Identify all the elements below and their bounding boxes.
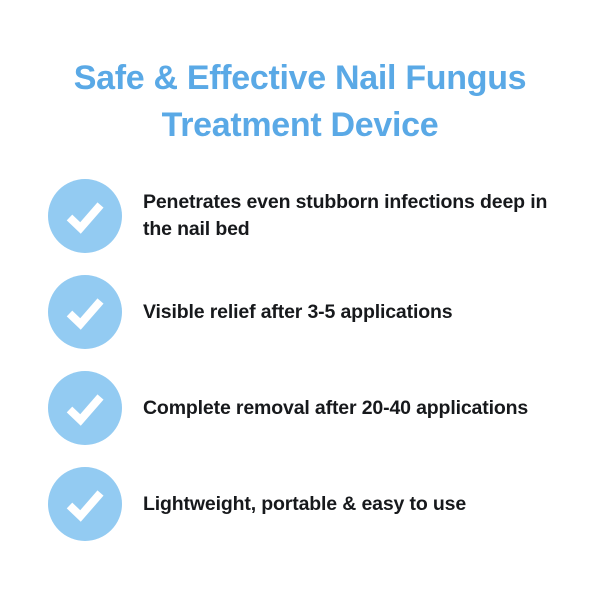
- list-item: Complete removal after 20-40 application…: [0, 360, 600, 456]
- page-title: Safe & Effective Nail Fungus Treatment D…: [50, 55, 550, 149]
- feature-text: Lightweight, portable & easy to use: [143, 491, 600, 518]
- page-title-line-2: Treatment Device: [50, 102, 550, 149]
- check-circle-icon: [48, 275, 122, 349]
- feature-list: Penetrates even stubborn infections deep…: [0, 168, 600, 552]
- list-item: Lightweight, portable & easy to use: [0, 456, 600, 552]
- list-item: Penetrates even stubborn infections deep…: [0, 168, 600, 264]
- feature-text: Penetrates even stubborn infections deep…: [143, 189, 600, 243]
- check-circle-icon: [48, 467, 122, 541]
- promo-poster: Safe & Effective Nail Fungus Treatment D…: [0, 0, 600, 600]
- feature-text: Visible relief after 3-5 applications: [143, 299, 600, 326]
- check-circle-icon: [48, 179, 122, 253]
- check-circle-icon: [48, 371, 122, 445]
- page-title-line-1: Safe & Effective Nail Fungus: [50, 55, 550, 102]
- feature-text: Complete removal after 20-40 application…: [143, 395, 600, 422]
- list-item: Visible relief after 3-5 applications: [0, 264, 600, 360]
